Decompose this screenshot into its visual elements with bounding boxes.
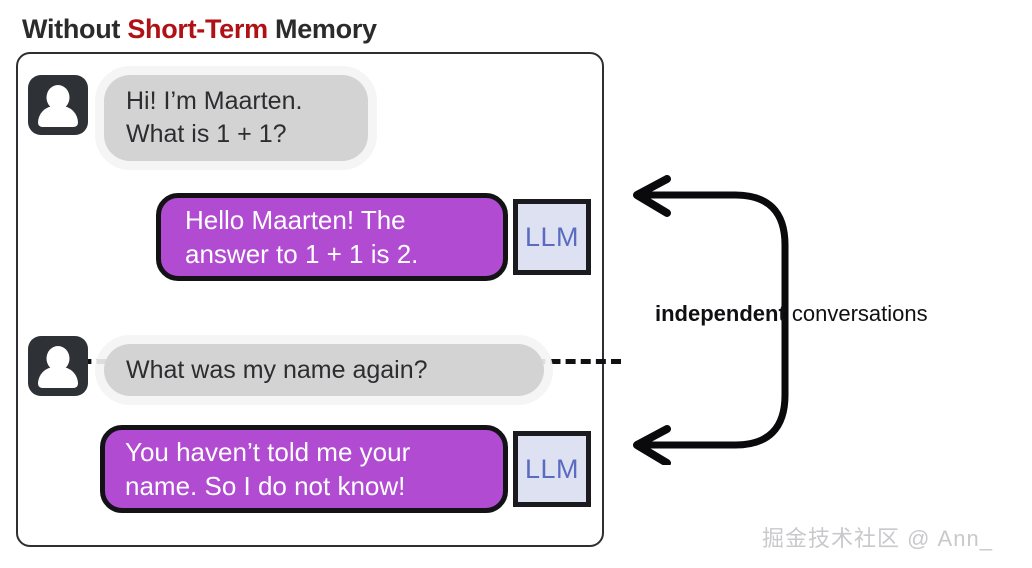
user-message-bubble-2: What was my name again? [104, 344, 544, 396]
user-message-line: Hi! I’m Maarten. [126, 85, 346, 118]
user-message-bubble-1: Hi! I’m Maarten. What is 1 + 1? [104, 75, 368, 161]
annotation-rest: conversations [786, 301, 928, 326]
title-accent: Short-Term [127, 14, 268, 44]
page-title: Without Short-Term Memory [22, 14, 377, 45]
title-suffix: Memory [268, 14, 377, 44]
llm-badge-label: LLM [525, 222, 579, 253]
assistant-message-line: answer to 1 + 1 is 2. [185, 237, 479, 271]
assistant-message-line: You haven’t told me your [125, 435, 483, 469]
avatar-body-shape [38, 106, 78, 127]
watermark: 掘金技术社区 @ Ann_ [762, 521, 993, 553]
annotation-text: independent conversations [655, 301, 928, 327]
llm-badge-1: LLM [513, 199, 591, 275]
annotation-bold: independent [655, 301, 786, 326]
assistant-message-bubble-1: Hello Maarten! The answer to 1 + 1 is 2. [156, 193, 508, 281]
person-avatar-icon [28, 336, 88, 396]
user-message-line: What is 1 + 1? [126, 118, 346, 151]
avatar-body-shape [38, 367, 78, 388]
assistant-message-bubble-2: You haven’t told me your name. So I do n… [100, 425, 508, 513]
assistant-message-line: name. So I do not know! [125, 469, 483, 503]
user-message-line: What was my name again? [126, 354, 522, 387]
person-avatar-icon [28, 75, 88, 135]
assistant-message-line: Hello Maarten! The [185, 203, 479, 237]
llm-badge-label: LLM [525, 454, 579, 485]
title-prefix: Without [22, 14, 127, 44]
llm-badge-2: LLM [513, 431, 591, 507]
